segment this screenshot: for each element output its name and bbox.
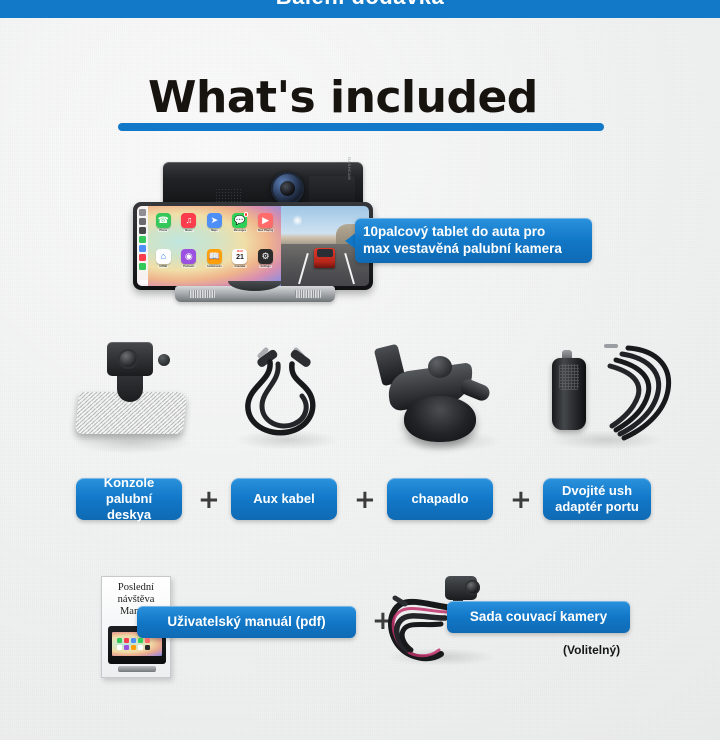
accessory-label-rearcam: Sada couvací kamery (447, 601, 630, 633)
booklet-line-1: Poslední (105, 582, 167, 594)
calendar-icon: MAR 21 (232, 249, 247, 264)
app-label: HOME (158, 265, 168, 268)
sidebar-music-icon (139, 254, 146, 261)
accessory-label-grip: chapadlo (387, 478, 493, 520)
maps-icon: ➤ (207, 213, 222, 228)
carplay-pane: ☎ Phone ♫ Music ➤ Maps 💬 (137, 206, 281, 286)
app-label: Settings (259, 265, 271, 268)
notification-badge-icon (244, 212, 249, 217)
carplay-app-now-playing[interactable]: ▶ Now Playing (254, 213, 277, 247)
carplay-app-home[interactable]: ⌂ HOME (152, 249, 175, 283)
sidebar-status-icon (139, 209, 146, 216)
carplay-app-messages[interactable]: 💬 Messages (229, 213, 252, 247)
app-label: Maps (210, 229, 219, 232)
carplay-app-grid: ☎ Phone ♫ Music ➤ Maps 💬 (148, 206, 281, 286)
grip-ball-joint (428, 356, 452, 378)
booklet-cover-app-icons (117, 638, 150, 650)
top-banner-bar: Balení dodávka (0, 0, 720, 18)
tablet-stand (175, 286, 335, 302)
top-banner-text: Balení dodávka (0, 0, 720, 10)
dashcam-lens-icon (271, 172, 304, 205)
charger-body (552, 358, 586, 430)
grip-lever (458, 377, 492, 403)
carplay-app-music[interactable]: ♫ Music (178, 213, 201, 247)
home-icon: ⌂ (156, 249, 171, 264)
podcasts-icon: ◉ (181, 249, 196, 264)
title-underline-rule (118, 123, 604, 131)
aux-cable-icon (232, 340, 342, 448)
sun-glare-icon (293, 214, 302, 227)
dual-usb-charger-icon (540, 338, 680, 450)
charger-cable-svg (586, 344, 680, 448)
hero-product-label: 10palcový tablet do auta pro max vestavě… (355, 218, 592, 263)
calendar-day: 21 (236, 254, 244, 261)
carplay-dock-indicator (140, 280, 148, 284)
booklet-cover-stand (118, 666, 156, 672)
app-label: Podcasts (182, 265, 196, 268)
page-title: What's included (148, 72, 538, 123)
sidebar-signal-icon (139, 218, 146, 225)
carplay-sidebar (137, 206, 148, 286)
dashcam-side-label: DASHCAM (347, 157, 352, 180)
page-root: Balení dodávka What's included DASHCAM (0, 0, 720, 740)
grip-suction-cup (404, 396, 476, 442)
accessory-label-usb: Dvojité ush adaptér portu (543, 478, 651, 520)
now-playing-icon: ▶ (258, 213, 273, 228)
car-ahead (314, 248, 335, 269)
plus-separator-3: + (510, 487, 532, 513)
optional-note: (Volitelný) (563, 643, 620, 657)
rear-camera-body (445, 576, 477, 600)
booklet-line-2: návštěva (105, 594, 167, 606)
messages-icon: 💬 (232, 213, 247, 228)
stand-grip-left (189, 290, 215, 298)
carplay-app-maps[interactable]: ➤ Maps (203, 213, 226, 247)
app-label: Calendar (233, 265, 246, 268)
speaker-grille-icon (215, 188, 243, 202)
carplay-app-settings[interactable]: ⚙ Settings (254, 249, 277, 283)
sidebar-phone-icon (139, 236, 146, 243)
settings-icon: ⚙ (258, 249, 273, 264)
sidebar-maps-icon (139, 245, 146, 252)
accessory-label-manual: Uživatelský manuál (pdf) (137, 606, 356, 638)
stand-grip-right (295, 290, 321, 298)
plus-separator-2: + (354, 487, 376, 513)
tablet-screen: ☎ Phone ♫ Music ➤ Maps 💬 (137, 206, 369, 286)
suction-grip-icon (372, 334, 502, 450)
phone-icon: ☎ (156, 213, 171, 228)
console-head (107, 342, 153, 376)
carplay-app-phone[interactable]: ☎ Phone (152, 213, 175, 247)
carplay-app-audiobooks[interactable]: 📖 Audiobooks (203, 249, 226, 283)
app-label: Phone (158, 229, 168, 232)
carplay-app-calendar[interactable]: MAR 21 Calendar (229, 249, 252, 283)
carplay-app-podcasts[interactable]: ◉ Podcasts (178, 249, 201, 283)
music-icon: ♫ (181, 213, 196, 228)
hero-product-image: DASHCAM ☎ (133, 158, 373, 308)
dashboard-console-icon (75, 338, 190, 448)
app-label: Music (184, 229, 193, 232)
plus-separator-1: + (198, 487, 220, 513)
app-label: Messages (233, 229, 247, 232)
console-knob (158, 354, 170, 366)
accessory-label-aux: Aux kabel (231, 478, 337, 520)
accessory-label-console: Konzole palubní deskya (76, 478, 182, 520)
sidebar-call-icon (139, 263, 146, 270)
tablet-screen-frame: ☎ Phone ♫ Music ➤ Maps 💬 (133, 202, 373, 290)
app-label: Audiobooks (206, 265, 223, 268)
aux-cable-svg (232, 340, 342, 448)
app-label: Now Playing (257, 229, 274, 232)
audiobooks-icon: 📖 (207, 249, 222, 264)
sidebar-clock-icon (139, 227, 146, 234)
